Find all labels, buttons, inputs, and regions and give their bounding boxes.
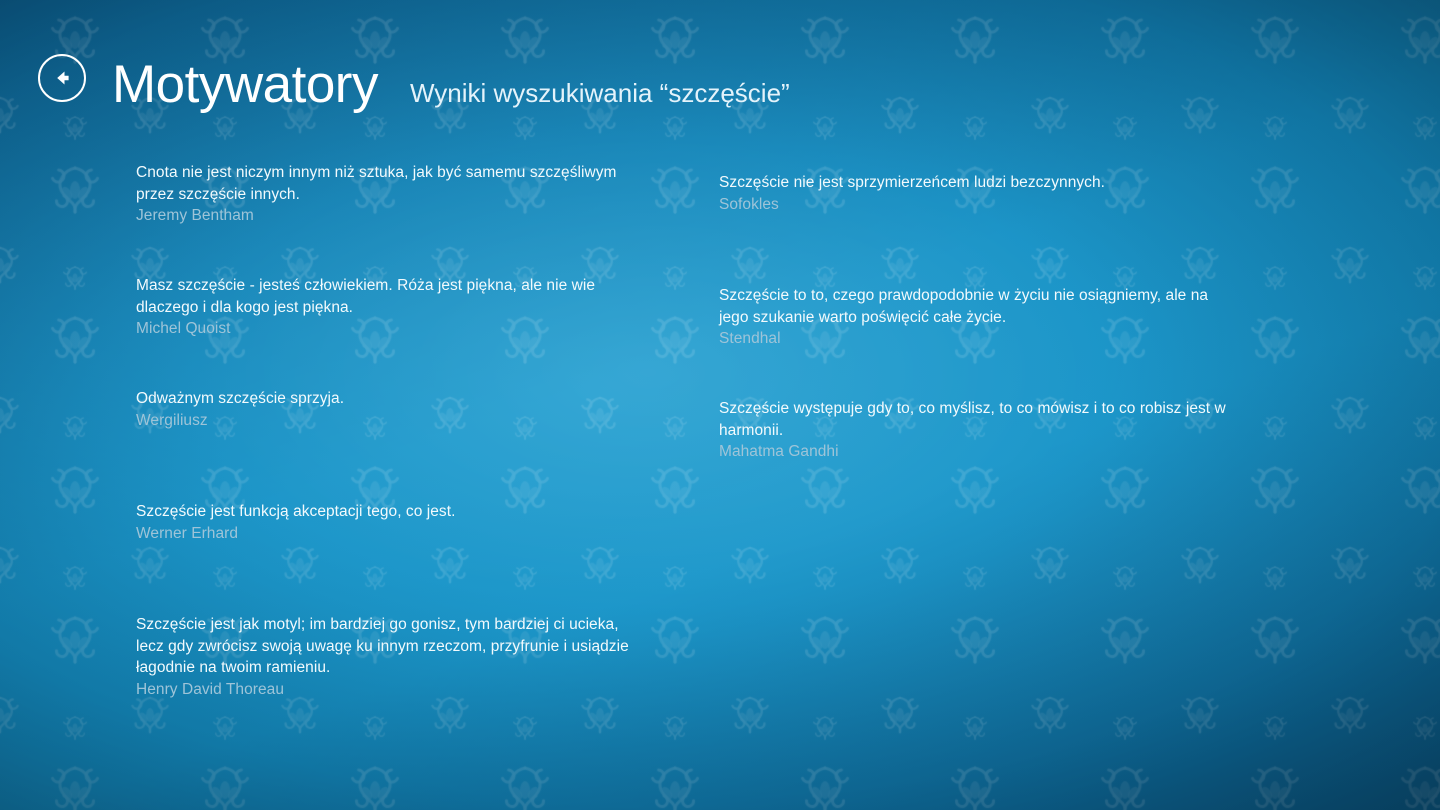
quote-item[interactable]: Szczęście jest jak motyl; im bardziej go… [136,614,718,727]
back-arrow-icon [50,66,74,90]
quote-item[interactable]: Cnota nie jest niczym innym niż sztuka, … [136,162,718,275]
quote-text: Szczęście jest funkcją akceptacji tego, … [136,501,642,523]
quote-item[interactable]: Szczęście jest funkcją akceptacji tego, … [136,501,718,614]
quote-item[interactable]: Szczęście to to, czego prawdopodobnie w … [719,285,1301,398]
search-results-summary: Wyniki wyszukiwania “szczęście” [410,80,790,106]
quote-author: Jeremy Bentham [136,205,718,227]
quote-item[interactable]: Masz szczęście - jesteś człowiekiem. Róż… [136,275,718,388]
quote-item[interactable]: Szczęście występuje gdy to, co myślisz, … [719,398,1301,511]
quote-author: Henry David Thoreau [136,679,718,701]
quote-author: Mahatma Gandhi [719,441,1301,463]
quote-text: Szczęście to to, czego prawdopodobnie w … [719,285,1229,328]
quote-column-left: Cnota nie jest niczym innym niż sztuka, … [136,162,718,762]
quote-author: Stendhal [719,328,1301,350]
quote-column-right: Szczęście nie jest sprzymierzeńcem ludzi… [719,162,1301,762]
quote-text: Masz szczęście - jesteś człowiekiem. Róż… [136,275,642,318]
app-root: Motywatory Wyniki wyszukiwania “szczęści… [0,0,1440,810]
quote-text: Odważnym szczęście sprzyja. [136,388,642,410]
quote-text: Cnota nie jest niczym innym niż sztuka, … [136,162,642,205]
page-title: Motywatory [112,58,378,111]
quote-text: Szczęście jest jak motyl; im bardziej go… [136,614,642,679]
quote-author: Wergiliusz [136,410,718,432]
page-header: Motywatory Wyniki wyszukiwania “szczęści… [38,54,790,111]
quote-author: Sofokles [719,194,1301,216]
quote-text: Szczęście nie jest sprzymierzeńcem ludzi… [719,172,1229,194]
back-button[interactable] [38,54,86,102]
quote-text: Szczęście występuje gdy to, co myślisz, … [719,398,1229,441]
quote-author: Werner Erhard [136,523,718,545]
quote-results-grid: Cnota nie jest niczym innym niż sztuka, … [136,162,1376,762]
quote-author: Michel Quoist [136,318,718,340]
quote-item[interactable]: Odważnym szczęście sprzyja.Wergiliusz [136,388,718,501]
quote-item[interactable]: Szczęście nie jest sprzymierzeńcem ludzi… [719,172,1301,285]
